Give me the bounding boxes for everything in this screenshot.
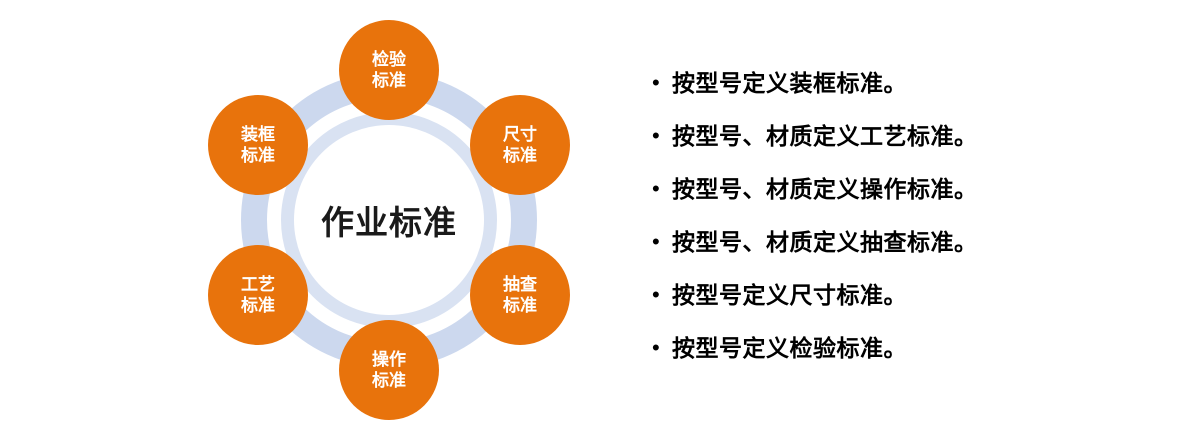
node-label-line2: 标准 xyxy=(503,145,537,166)
bullet-text: 按型号、材质定义抽查标准。 xyxy=(672,227,978,257)
node-label-line1: 工艺 xyxy=(241,274,275,295)
bullet-list: •按型号定义装框标准。•按型号、材质定义工艺标准。•按型号、材质定义操作标准。•… xyxy=(652,68,1172,386)
bullet-text: 按型号、材质定义操作标准。 xyxy=(672,174,978,204)
list-item: •按型号定义尺寸标准。 xyxy=(652,280,1172,333)
node-label-line1: 尺寸 xyxy=(503,124,537,145)
cycle-diagram: 作业标准 检验标准尺寸标准抽查标准操作标准工艺标准装框标准 xyxy=(0,0,600,437)
diagram-node-dimension-standard[interactable]: 尺寸标准 xyxy=(470,95,570,195)
diagram-node-inspection-standard[interactable]: 检验标准 xyxy=(339,20,439,120)
bullet-dot-icon: • xyxy=(652,121,672,151)
node-label-line1: 装框 xyxy=(241,124,275,145)
bullet-text: 按型号、材质定义工艺标准。 xyxy=(672,121,978,151)
list-item: •按型号定义检验标准。 xyxy=(652,333,1172,386)
bullet-text: 按型号定义尺寸标准。 xyxy=(672,280,907,310)
list-item: •按型号定义装框标准。 xyxy=(652,68,1172,121)
diagram-node-framing-standard[interactable]: 装框标准 xyxy=(208,95,308,195)
node-label-line1: 检验 xyxy=(372,49,406,70)
node-label-line2: 标准 xyxy=(503,295,537,316)
bullet-dot-icon: • xyxy=(652,227,672,257)
node-label-line2: 标准 xyxy=(241,295,275,316)
slide-canvas: 作业标准 检验标准尺寸标准抽查标准操作标准工艺标准装框标准 •按型号定义装框标准… xyxy=(0,0,1200,437)
node-label-line1: 抽查 xyxy=(503,274,537,295)
list-item: •按型号、材质定义抽查标准。 xyxy=(652,227,1172,280)
node-label-line2: 标准 xyxy=(241,145,275,166)
bullet-dot-icon: • xyxy=(652,333,672,363)
node-label-line2: 标准 xyxy=(372,70,406,91)
bullet-dot-icon: • xyxy=(652,174,672,204)
bullet-dot-icon: • xyxy=(652,280,672,310)
node-label-line2: 标准 xyxy=(372,370,406,391)
list-item: •按型号、材质定义操作标准。 xyxy=(652,174,1172,227)
diagram-node-sampling-standard[interactable]: 抽查标准 xyxy=(470,245,570,345)
bullet-text: 按型号定义装框标准。 xyxy=(672,68,907,98)
bullet-dot-icon: • xyxy=(652,68,672,98)
diagram-center-label: 作业标准 xyxy=(321,196,457,244)
node-label-line1: 操作 xyxy=(372,349,406,370)
diagram-node-operation-standard[interactable]: 操作标准 xyxy=(339,320,439,420)
diagram-node-process-standard[interactable]: 工艺标准 xyxy=(208,245,308,345)
bullet-text: 按型号定义检验标准。 xyxy=(672,333,907,363)
list-item: •按型号、材质定义工艺标准。 xyxy=(652,121,1172,174)
